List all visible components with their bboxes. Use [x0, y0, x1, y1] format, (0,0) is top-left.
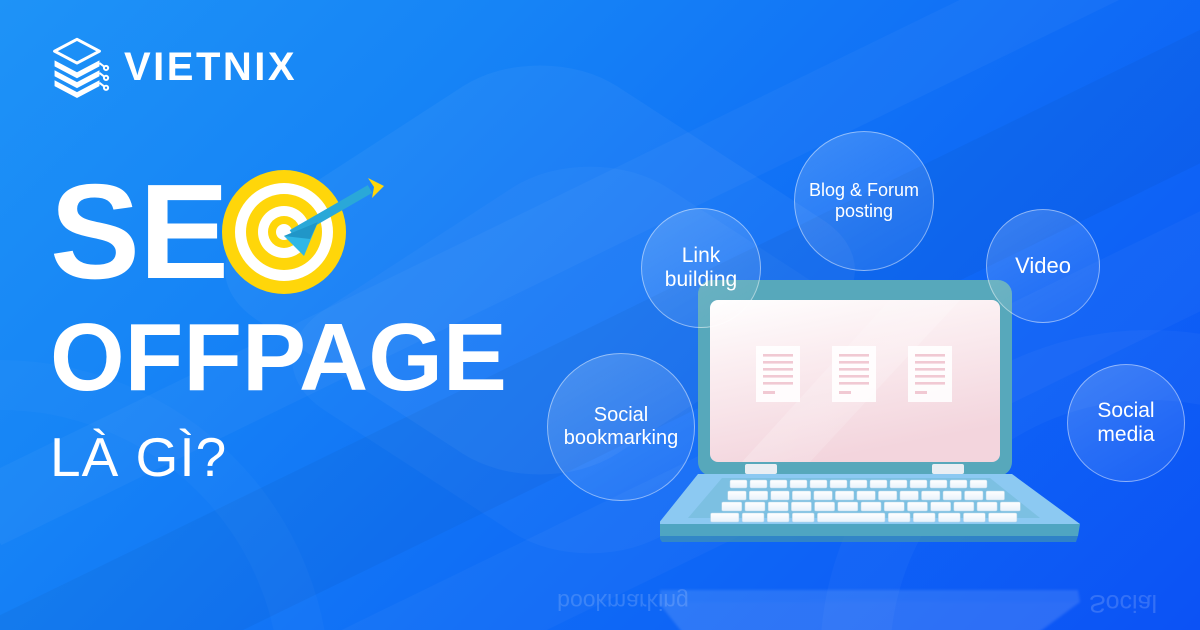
stacked-layers-server-icon — [44, 34, 110, 100]
social-media-reflection: Social — [1063, 588, 1183, 617]
bubble-social-media[interactable]: Social media — [1067, 364, 1185, 482]
headline-seo-text: SE — [50, 170, 228, 294]
bubble-blog-forum-line2: posting — [809, 201, 919, 222]
social-bookmarking-reflection: bookmarking — [548, 588, 698, 615]
reflection-text-social: Social — [1089, 589, 1157, 617]
banner-canvas: VIETNIX SE — [0, 0, 1200, 630]
laptop-reflection — [660, 548, 1120, 630]
bubble-social-bookmarking-line2: bookmarking — [564, 427, 679, 450]
screen-document-cards — [756, 346, 952, 402]
bubble-link-building-line2: building — [665, 268, 737, 292]
bubble-social-media-line2: media — [1097, 423, 1154, 447]
reflection-text-bookmarking: bookmarking — [557, 589, 689, 615]
bubble-video-line1: Video — [1015, 253, 1071, 279]
bubble-blog-forum-line1: Blog & Forum — [809, 180, 919, 201]
headline-line-2: OFFPAGE — [50, 310, 610, 406]
bubble-video[interactable]: Video — [986, 209, 1100, 323]
bubble-link-building-line1: Link — [665, 244, 737, 268]
headline-line-1: SE — [50, 168, 610, 296]
headline-block: SE — [50, 168, 610, 485]
target-dartboard-icon — [222, 164, 394, 304]
bubble-link-building[interactable]: Link building — [641, 208, 761, 328]
brand-logo[interactable]: VIETNIX — [44, 34, 297, 100]
brand-wordmark: VIETNIX — [124, 47, 297, 87]
bubble-social-bookmarking[interactable]: Social bookmarking — [547, 353, 695, 501]
headline-line-3: LÀ GÌ? — [50, 430, 610, 485]
bubble-social-bookmarking-line1: Social — [564, 404, 679, 427]
target-dartboard-wrap — [222, 168, 392, 296]
bubble-blog-forum-posting[interactable]: Blog & Forum posting — [794, 131, 934, 271]
laptop-keyboard — [688, 478, 1040, 522]
bubble-social-media-line1: Social — [1097, 399, 1154, 423]
